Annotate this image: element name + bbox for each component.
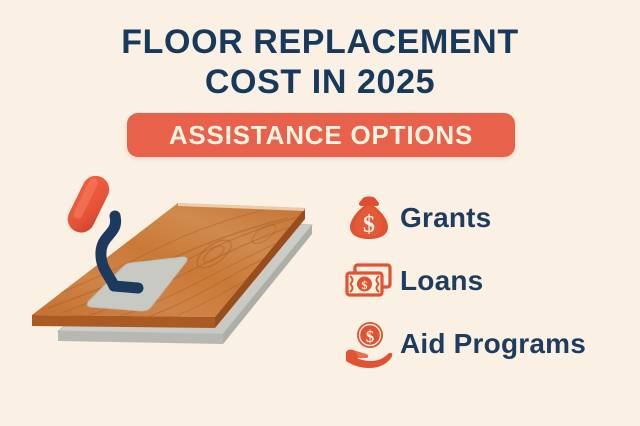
infographic-poster: FLOOR REPLACEMENT COST IN 2025 ASSISTANC… [0,0,640,426]
svg-text:$: $ [366,327,375,346]
option-label-grants: Grants [400,202,491,234]
money-bag-icon: $ [338,195,400,241]
svg-text:$: $ [363,212,375,238]
assistance-options-list: $ Grants $ Loan [338,186,638,375]
page-title: FLOOR REPLACEMENT COST IN 2025 [0,22,640,102]
option-row-aid-programs[interactable]: $ Aid Programs [338,312,638,375]
svg-text:$: $ [362,278,368,292]
option-row-grants[interactable]: $ Grants [338,186,638,249]
banknote-icon: $ [338,262,400,300]
title-line-1: FLOOR REPLACEMENT [0,22,640,62]
option-label-aid-programs: Aid Programs [400,328,586,360]
title-line-2: COST IN 2025 [0,62,640,102]
hand-coin-icon: $ [338,320,400,368]
trowel-orange-handle [63,176,114,237]
option-row-loans[interactable]: $ Loans [338,249,638,312]
flooring-illustration [18,176,330,391]
badge-label: ASSISTANCE OPTIONS [169,120,473,151]
assistance-options-badge: ASSISTANCE OPTIONS [127,113,515,157]
option-label-loans: Loans [400,265,483,297]
